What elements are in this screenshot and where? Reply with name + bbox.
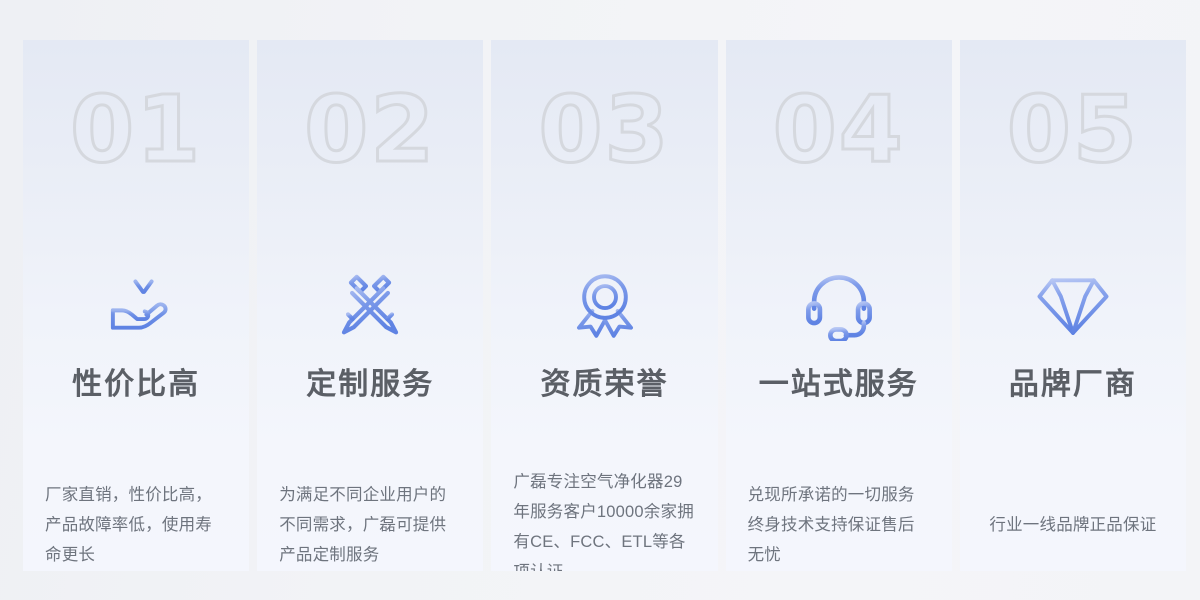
card-number-02: 02 bbox=[257, 84, 483, 176]
card-number-01: 01 bbox=[23, 84, 249, 176]
card-description-3: 广磊专注空气净化器29年服务客户10000余家拥有CE、FCC、ETL等各项认证 bbox=[513, 467, 695, 571]
card-number-04: 04 bbox=[726, 84, 952, 176]
feature-card-3[interactable]: 03 bbox=[491, 40, 717, 571]
card-title-3: 资质荣誉 bbox=[491, 365, 717, 405]
headset-support-icon bbox=[726, 258, 952, 350]
card-title-2: 定制服务 bbox=[257, 365, 483, 405]
card-number-03: 03 bbox=[491, 84, 717, 176]
card-title-1: 性价比高 bbox=[23, 365, 249, 405]
card-description-1: 厂家直销，性价比高，产品故障率低，使用寿命更长 bbox=[45, 480, 227, 570]
feature-card-1[interactable]: 01 bbox=[23, 40, 249, 571]
diamond-icon bbox=[960, 258, 1186, 350]
feature-cards-row: 01 bbox=[23, 40, 1186, 571]
hand-holding-yuan-icon bbox=[23, 258, 249, 350]
card-description-5: 行业一线品牌正品保证 bbox=[970, 510, 1176, 540]
card-description-4: 兑现所承诺的一切服务终身技术支持保证售后无忧 bbox=[748, 480, 930, 570]
feature-card-5[interactable]: 05 bbox=[960, 40, 1186, 571]
card-title-5: 品牌厂商 bbox=[960, 365, 1186, 405]
card-description-2: 为满足不同企业用户的不同需求，广磊可提供产品定制服务 bbox=[279, 480, 461, 570]
card-number-05: 05 bbox=[960, 84, 1186, 176]
award-medal-icon bbox=[491, 258, 717, 350]
feature-card-2[interactable]: 02 bbox=[257, 40, 483, 571]
crossed-pencils-icon bbox=[257, 258, 483, 350]
feature-cards-page: 01 bbox=[0, 0, 1200, 600]
card-title-4: 一站式服务 bbox=[726, 365, 952, 405]
feature-card-4[interactable]: 04 bbox=[726, 40, 952, 571]
